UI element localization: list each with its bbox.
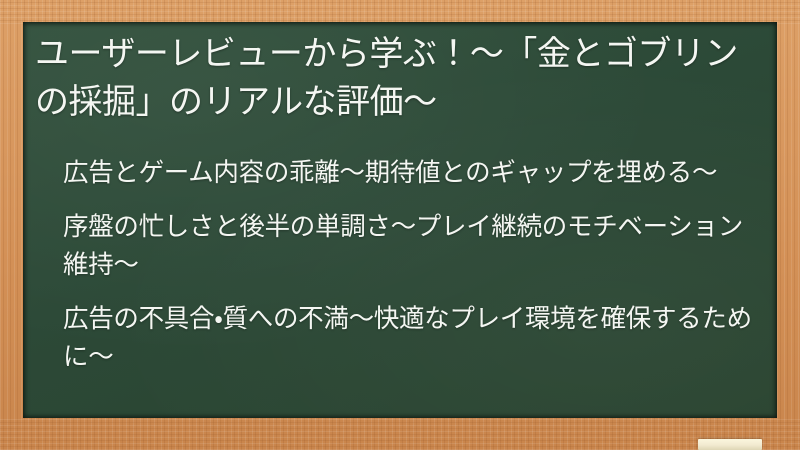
frame-bottom-ledge xyxy=(0,418,800,450)
chalk-stick-icon xyxy=(698,439,762,450)
frame-top-rail xyxy=(0,0,800,24)
bullet-item: 広告とゲーム内容の乖離〜期待値とのギャップを埋める〜 xyxy=(63,154,753,192)
slide-title: ユーザーレビューから学ぶ！〜「金とゴブリンの採掘」のリアルな評価〜 xyxy=(35,30,761,126)
blackboard-slide: ユーザーレビューから学ぶ！〜「金とゴブリンの採掘」のリアルな評価〜 広告とゲーム… xyxy=(0,0,800,450)
bullet-item: 序盤の忙しさと後半の単調さ〜プレイ継続のモチベーション維持〜 xyxy=(63,208,753,284)
bullet-item: 広告の不具合・質への不満〜快適なプレイ環境を確保するために〜 xyxy=(63,300,753,376)
bullet-list: 広告とゲーム内容の乖離〜期待値とのギャップを埋める〜 序盤の忙しさと後半の単調さ… xyxy=(63,154,753,376)
chalkboard-surface: ユーザーレビューから学ぶ！〜「金とゴブリンの採掘」のリアルな評価〜 広告とゲーム… xyxy=(23,22,777,418)
